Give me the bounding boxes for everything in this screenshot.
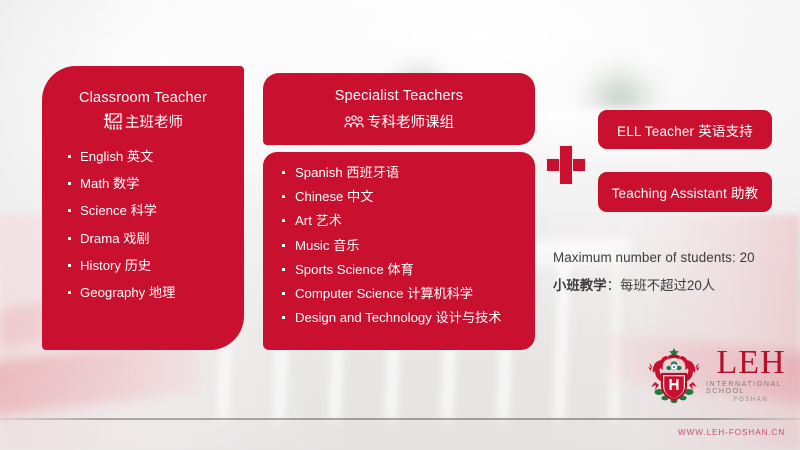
specialist-teachers-subject-list: Spanish 西班牙语 Chinese 中文 Art 艺术 Music 音乐 …	[277, 166, 525, 324]
specialist-teachers-title-en: Specialist Teachers	[335, 86, 463, 107]
leh-city: FOSHAN	[734, 397, 769, 403]
leh-crest-icon	[648, 346, 700, 404]
list-item: Sports Science 体育	[277, 263, 525, 276]
plus-icon	[546, 145, 586, 185]
list-item: Computer Science 计算机科学	[277, 287, 525, 300]
class-size-note-cn-rest: ：每班不超过20人	[607, 278, 716, 293]
specialist-teachers-header: Specialist Teachers 专科老师课组	[263, 73, 535, 145]
specialist-teachers-title-cn: 专科老师课组	[367, 111, 454, 132]
list-item: Drama 戏剧	[64, 232, 230, 245]
class-size-note-en: Maximum number of students: 20	[553, 250, 793, 265]
specialist-teachers-panel: Spanish 西班牙语 Chinese 中文 Art 艺术 Music 音乐 …	[263, 152, 535, 350]
list-item: Art 艺术	[277, 214, 525, 227]
plus-icon-vertical-bar	[559, 145, 573, 185]
slide-canvas: Classroom Teacher 主班老师	[0, 0, 800, 450]
website-url[interactable]: WWW.LEH-FOSHAN.CN	[678, 428, 785, 437]
class-size-note-cn: 小班教学：每班不超过20人	[553, 274, 793, 294]
list-item: Geography 地理	[64, 286, 230, 299]
footer-divider	[0, 418, 800, 420]
classroom-teacher-title-cn-row: 主班老师	[56, 111, 230, 132]
teacher-presenting-icon	[103, 113, 122, 130]
list-item: Design and Technology 设计与技术	[277, 311, 525, 324]
list-item: English 英文	[64, 150, 230, 163]
leh-subtitle: INTERNATIONAL SCHOOL	[706, 381, 796, 395]
class-size-note: Maximum number of students: 20 小班教学：每班不超…	[553, 250, 793, 294]
leh-wordmark-block: LEH INTERNATIONAL SCHOOL FOSHAN	[706, 347, 796, 403]
class-size-note-cn-bold: 小班教学	[553, 278, 607, 293]
teaching-assistant-label: Teaching Assistant 助教	[612, 182, 759, 202]
classroom-teacher-panel: Classroom Teacher 主班老师	[42, 66, 244, 350]
list-item: Math 数学	[64, 177, 230, 190]
people-group-icon	[344, 115, 364, 129]
list-item: Spanish 西班牙语	[277, 166, 525, 179]
classroom-teacher-title-cn: 主班老师	[125, 111, 183, 132]
list-item: Music 音乐	[277, 239, 525, 252]
list-item: History 历史	[64, 259, 230, 272]
classroom-teacher-subject-list: English 英文 Math 数学 Science 科学 Drama 戏剧 H…	[56, 150, 230, 299]
teaching-assistant-pill: Teaching Assistant 助教	[598, 172, 772, 212]
classroom-teacher-title-en: Classroom Teacher	[56, 88, 230, 109]
leh-wordmark-text: LEH	[716, 347, 785, 378]
ell-teacher-label: ELL Teacher 英语支持	[617, 120, 753, 140]
leh-logo: LEH INTERNATIONAL SCHOOL FOSHAN	[648, 344, 796, 406]
specialist-teachers-title-cn-row: 专科老师课组	[344, 111, 454, 132]
list-item: Science 科学	[64, 204, 230, 217]
ell-teacher-pill: ELL Teacher 英语支持	[598, 110, 772, 149]
list-item: Chinese 中文	[277, 190, 525, 203]
